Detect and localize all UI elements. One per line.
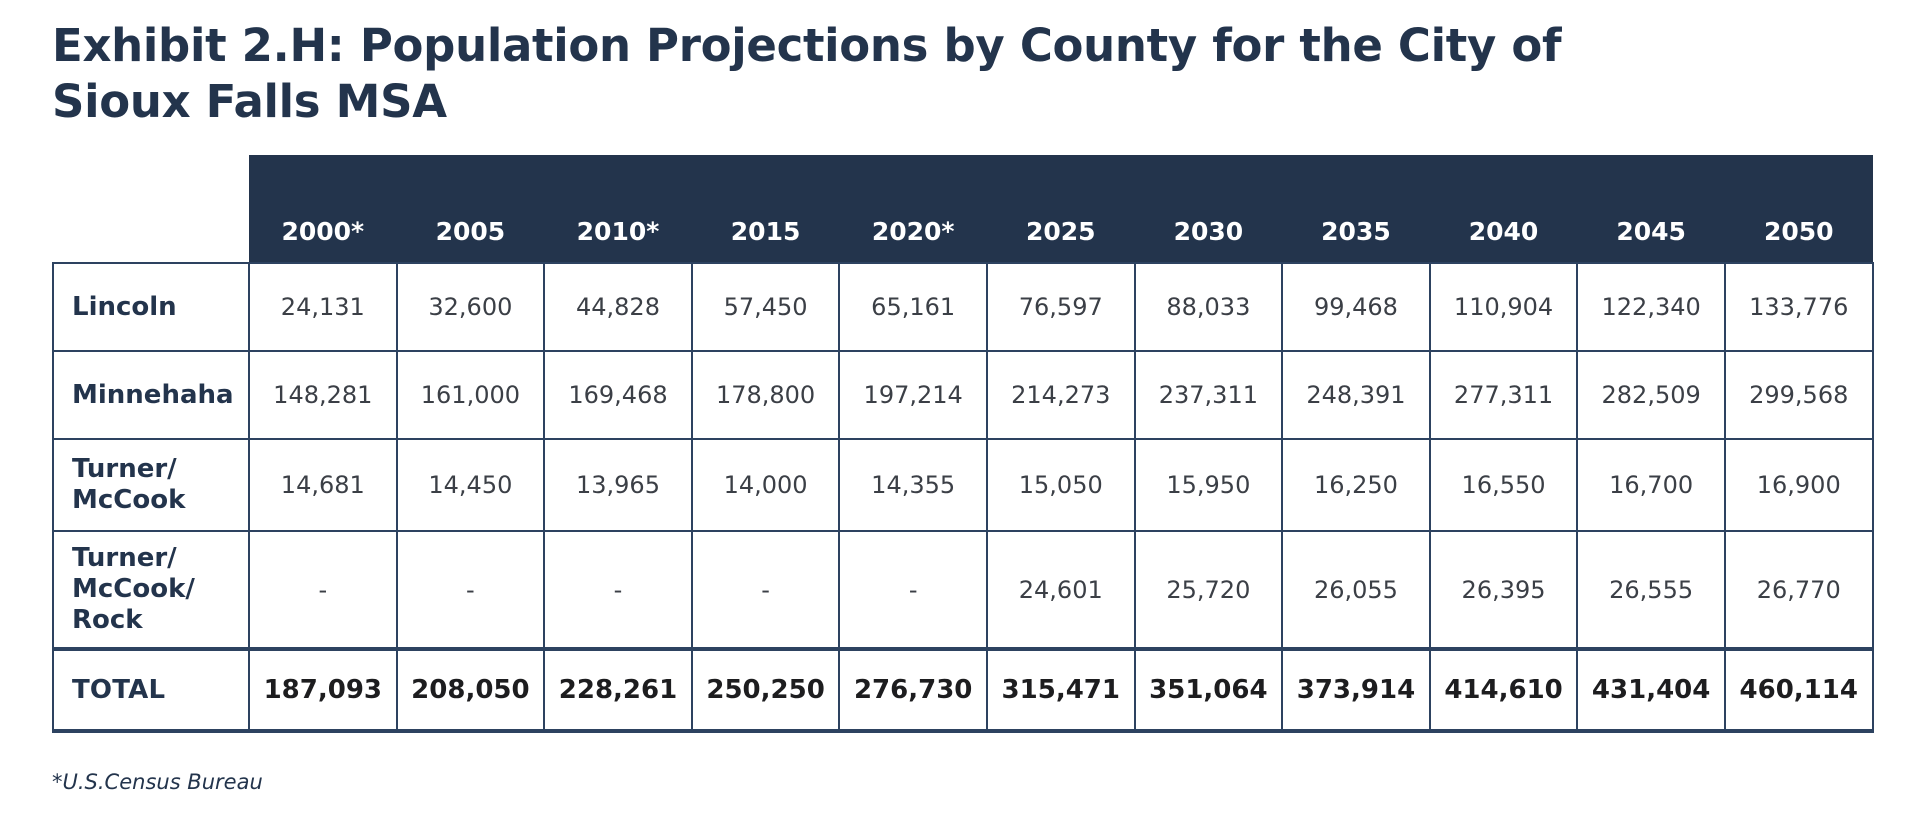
cell-turner-mccook-2015: 14,000 xyxy=(692,439,840,531)
column-header-2030: 2030 xyxy=(1135,155,1283,263)
cell-turner-mccook-rock-2000: - xyxy=(249,531,397,649)
page-title: Exhibit 2.H: Population Projections by C… xyxy=(52,18,1752,130)
cell-minnehaha-2025: 214,273 xyxy=(987,351,1135,439)
cell-lincoln-2035: 99,468 xyxy=(1282,263,1430,351)
row-label-total: TOTAL xyxy=(53,649,249,731)
cell-turner-mccook-2035: 16,250 xyxy=(1282,439,1430,531)
table-row: Turner/ McCook/ Rock - - - - - 24,601 25… xyxy=(53,531,1873,649)
cell-turner-mccook-rock-2040: 26,395 xyxy=(1430,531,1578,649)
cell-lincoln-2000: 24,131 xyxy=(249,263,397,351)
table-header: 2000* 2005 2010* 2015 2020* 2025 2030 20… xyxy=(53,155,1873,263)
table-row: Minnehaha 148,281 161,000 169,468 178,80… xyxy=(53,351,1873,439)
cell-lincoln-2025: 76,597 xyxy=(987,263,1135,351)
cell-total-2045: 431,404 xyxy=(1577,649,1725,731)
cell-minnehaha-2005: 161,000 xyxy=(397,351,545,439)
cell-turner-mccook-rock-2025: 24,601 xyxy=(987,531,1135,649)
row-label-minnehaha: Minnehaha xyxy=(53,351,249,439)
cell-turner-mccook-2050: 16,900 xyxy=(1725,439,1873,531)
cell-lincoln-2040: 110,904 xyxy=(1430,263,1578,351)
population-table-container: 2000* 2005 2010* 2015 2020* 2025 2030 20… xyxy=(52,155,1872,733)
source-footnote: *U.S.Census Bureau xyxy=(52,770,263,794)
cell-turner-mccook-2010: 13,965 xyxy=(544,439,692,531)
cell-minnehaha-2010: 169,468 xyxy=(544,351,692,439)
cell-turner-mccook-2045: 16,700 xyxy=(1577,439,1725,531)
cell-lincoln-2030: 88,033 xyxy=(1135,263,1283,351)
cell-turner-mccook-rock-2015: - xyxy=(692,531,840,649)
header-row: 2000* 2005 2010* 2015 2020* 2025 2030 20… xyxy=(53,155,1873,263)
cell-total-2005: 208,050 xyxy=(397,649,545,731)
table-row: Lincoln 24,131 32,600 44,828 57,450 65,1… xyxy=(53,263,1873,351)
cell-lincoln-2005: 32,600 xyxy=(397,263,545,351)
cell-lincoln-2045: 122,340 xyxy=(1577,263,1725,351)
cell-turner-mccook-rock-2010: - xyxy=(544,531,692,649)
column-header-2020: 2020* xyxy=(839,155,987,263)
cell-turner-mccook-rock-2030: 25,720 xyxy=(1135,531,1283,649)
column-header-2005: 2005 xyxy=(397,155,545,263)
cell-turner-mccook-rock-2035: 26,055 xyxy=(1282,531,1430,649)
column-header-2035: 2035 xyxy=(1282,155,1430,263)
cell-total-2030: 351,064 xyxy=(1135,649,1283,731)
cell-turner-mccook-2020: 14,355 xyxy=(839,439,987,531)
cell-total-2000: 187,093 xyxy=(249,649,397,731)
population-projections-table: 2000* 2005 2010* 2015 2020* 2025 2030 20… xyxy=(52,155,1874,733)
table-body: Lincoln 24,131 32,600 44,828 57,450 65,1… xyxy=(53,263,1873,731)
cell-total-2010: 228,261 xyxy=(544,649,692,731)
row-label-turner-mccook-rock: Turner/ McCook/ Rock xyxy=(53,531,249,649)
cell-minnehaha-2050: 299,568 xyxy=(1725,351,1873,439)
cell-turner-mccook-rock-2020: - xyxy=(839,531,987,649)
cell-minnehaha-2020: 197,214 xyxy=(839,351,987,439)
header-corner-cell xyxy=(53,155,249,263)
cell-lincoln-2015: 57,450 xyxy=(692,263,840,351)
table-row-total: TOTAL 187,093 208,050 228,261 250,250 27… xyxy=(53,649,1873,731)
cell-minnehaha-2015: 178,800 xyxy=(692,351,840,439)
cell-turner-mccook-2005: 14,450 xyxy=(397,439,545,531)
column-header-2050: 2050 xyxy=(1725,155,1873,263)
cell-total-2050: 460,114 xyxy=(1725,649,1873,731)
column-header-2010: 2010* xyxy=(544,155,692,263)
cell-minnehaha-2030: 237,311 xyxy=(1135,351,1283,439)
cell-lincoln-2020: 65,161 xyxy=(839,263,987,351)
column-header-2045: 2045 xyxy=(1577,155,1725,263)
cell-turner-mccook-2025: 15,050 xyxy=(987,439,1135,531)
cell-total-2020: 276,730 xyxy=(839,649,987,731)
cell-total-2025: 315,471 xyxy=(987,649,1135,731)
cell-lincoln-2010: 44,828 xyxy=(544,263,692,351)
cell-turner-mccook-2040: 16,550 xyxy=(1430,439,1578,531)
cell-total-2040: 414,610 xyxy=(1430,649,1578,731)
exhibit-page: Exhibit 2.H: Population Projections by C… xyxy=(0,0,1920,816)
cell-turner-mccook-2030: 15,950 xyxy=(1135,439,1283,531)
column-header-2040: 2040 xyxy=(1430,155,1578,263)
cell-total-2035: 373,914 xyxy=(1282,649,1430,731)
cell-minnehaha-2000: 148,281 xyxy=(249,351,397,439)
cell-turner-mccook-2000: 14,681 xyxy=(249,439,397,531)
cell-minnehaha-2040: 277,311 xyxy=(1430,351,1578,439)
cell-turner-mccook-rock-2005: - xyxy=(397,531,545,649)
row-label-turner-mccook: Turner/ McCook xyxy=(53,439,249,531)
table-row: Turner/ McCook 14,681 14,450 13,965 14,0… xyxy=(53,439,1873,531)
cell-turner-mccook-rock-2045: 26,555 xyxy=(1577,531,1725,649)
column-header-2025: 2025 xyxy=(987,155,1135,263)
cell-total-2015: 250,250 xyxy=(692,649,840,731)
cell-turner-mccook-rock-2050: 26,770 xyxy=(1725,531,1873,649)
cell-minnehaha-2045: 282,509 xyxy=(1577,351,1725,439)
cell-minnehaha-2035: 248,391 xyxy=(1282,351,1430,439)
column-header-2015: 2015 xyxy=(692,155,840,263)
cell-lincoln-2050: 133,776 xyxy=(1725,263,1873,351)
row-label-lincoln: Lincoln xyxy=(53,263,249,351)
column-header-2000: 2000* xyxy=(249,155,397,263)
